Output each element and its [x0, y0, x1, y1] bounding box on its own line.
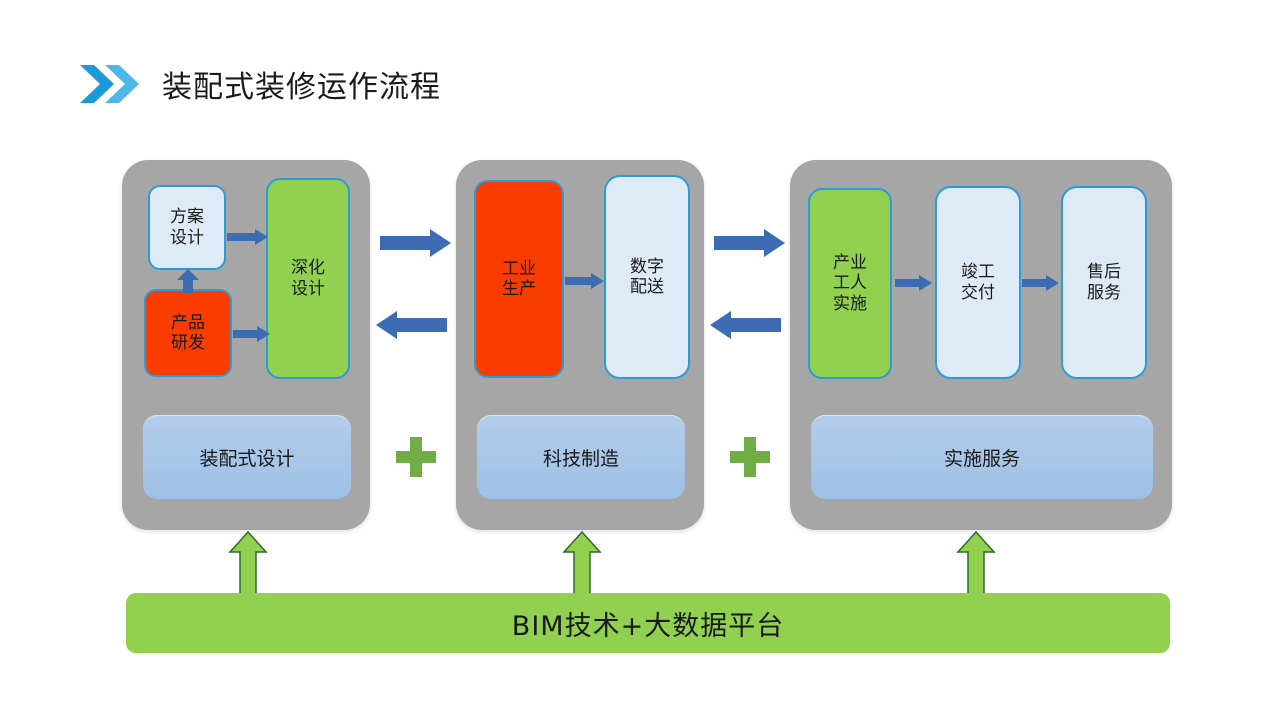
node-gongye-shengchan[interactable]: 工业 生产 [474, 180, 564, 378]
node-jungong-jiaofu[interactable]: 竣工 交付 [935, 186, 1021, 379]
connector-chanpin-to-shenhua-arrow-right [233, 325, 271, 343]
connector-chanye-to-jungong-arrow-right [895, 274, 933, 292]
node-chanye-gongren-shishi[interactable]: 产业 工人 实施 [808, 188, 892, 379]
node-shouhou-fuwu[interactable]: 售后 服务 [1061, 186, 1147, 379]
node-shuzi-peisong[interactable]: 数字 配送 [604, 175, 690, 379]
plus-icon-1 [396, 437, 436, 477]
connector-bim-to-design-arrow-up [228, 530, 268, 595]
diagram-canvas: 装配式装修运作流程 方案 设计 产品 研发 深化 设计 工业 生产 数字 配送 … [0, 0, 1280, 720]
double-chevron-icon [78, 61, 140, 107]
connector-jungong-to-shouhou-arrow-right [1022, 274, 1060, 292]
connector-bim-to-service-arrow-up [956, 530, 996, 595]
capability-bar-shishi-fuwu[interactable]: 实施服务 [811, 415, 1153, 499]
connector-bim-to-manufacture-arrow-up [562, 530, 602, 595]
connector-manufacture-to-design-arrow-left [375, 310, 447, 340]
bim-platform-bar[interactable]: BIM技术+大数据平台 [126, 593, 1170, 653]
capability-bar-zhuangpeishi-sheji[interactable]: 装配式设计 [143, 415, 351, 499]
connector-service-to-manufacture-arrow-left [709, 310, 781, 340]
node-chanpin-yanfa[interactable]: 产品 研发 [144, 289, 232, 377]
connector-fangan-to-shenhua-arrow-right [227, 228, 269, 246]
node-fangan-sheji[interactable]: 方案 设计 [148, 185, 226, 270]
node-shenhua-sheji[interactable]: 深化 设计 [266, 178, 350, 379]
page-header: 装配式装修运作流程 [78, 56, 441, 112]
plus-icon-2 [730, 437, 770, 477]
capability-bar-keji-zhizao[interactable]: 科技制造 [477, 415, 685, 499]
connector-gongye-to-shuzi-arrow-right [565, 272, 605, 290]
connector-design-to-manufacture-arrow-right [380, 228, 452, 258]
connector-manufacture-to-service-arrow-right [714, 228, 786, 258]
page-title: 装配式装修运作流程 [162, 62, 441, 106]
connector-chanpin-to-fangan-arrow-up [175, 268, 201, 294]
